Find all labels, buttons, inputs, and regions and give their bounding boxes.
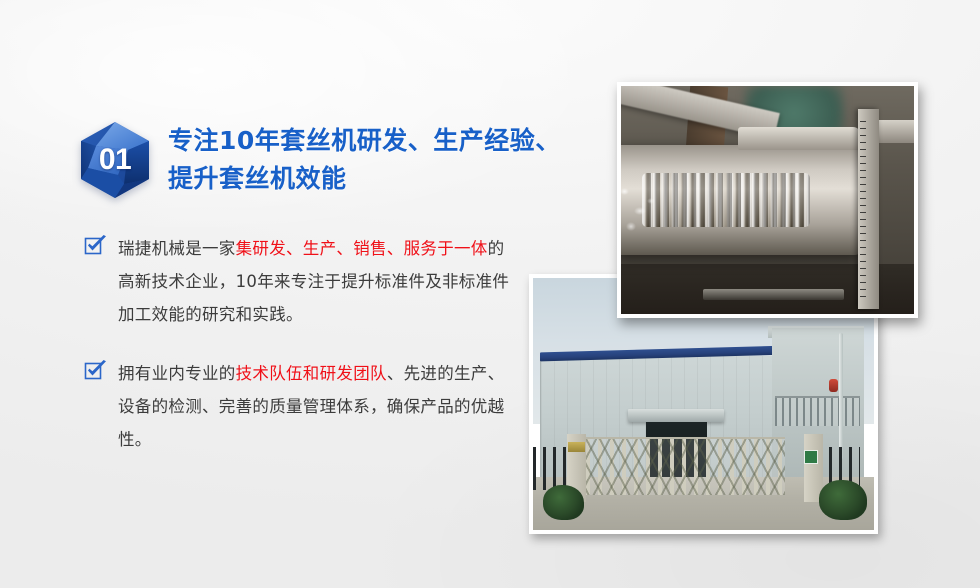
content-column: 01 专注10年套丝机研发、生产经验、 提升套丝机效能 瑞捷机械是一家集研发、生… xyxy=(0,0,560,588)
list-item: 拥有业内专业的技术队伍和研发团队、先进的生产、设备的检测、完善的质量管理体系，确… xyxy=(84,357,524,456)
floor-rail xyxy=(703,289,844,300)
green-door-sign xyxy=(804,450,818,465)
headline-line-2: 提升套丝机效能 xyxy=(168,160,561,198)
pipe-photo-frame xyxy=(621,86,914,314)
pillar-plaque xyxy=(568,442,585,452)
drainpipe xyxy=(839,333,843,459)
caliper-scale xyxy=(858,109,879,310)
bullet-2-seg-2-highlight: 技术队伍和研发团队 xyxy=(236,364,387,383)
headline-line-1: 专注10年套丝机研发、生产经验、 xyxy=(168,122,561,160)
hexagon-badge-icon: 01 xyxy=(76,120,154,200)
balcony-railing xyxy=(775,396,860,426)
oil-droplets xyxy=(621,176,669,244)
bullet-1-seg-2-highlight: 集研发、生产、销售、服务于一体 xyxy=(236,239,488,258)
door-canopy xyxy=(628,409,723,422)
bush xyxy=(819,480,867,520)
list-item: 瑞捷机械是一家集研发、生产、销售、服务于一体的高新技术企业，10年来专注于提升标… xyxy=(84,232,524,331)
checkbox-check-icon xyxy=(84,360,108,382)
bullet-1-seg-1: 瑞捷机械是一家 xyxy=(118,239,236,258)
caliper-jaw xyxy=(738,127,861,150)
bullet-text: 拥有业内专业的技术队伍和研发团队、先进的生产、设备的检测、完善的质量管理体系，确… xyxy=(118,357,518,456)
threaded-pipe-photo xyxy=(617,82,918,318)
checkbox-check-icon xyxy=(84,235,108,257)
warning-light xyxy=(829,379,838,392)
feature-bullet-list: 瑞捷机械是一家集研发、生产、销售、服务于一体的高新技术企业，10年来专注于提升标… xyxy=(84,232,524,482)
pipe-scene xyxy=(621,86,914,314)
sliding-gate xyxy=(574,437,785,494)
badge-number: 01 xyxy=(76,120,154,200)
bullet-2-seg-1: 拥有业内专业的 xyxy=(118,364,236,383)
bullet-text: 瑞捷机械是一家集研发、生产、销售、服务于一体的高新技术企业，10年来专注于提升标… xyxy=(118,232,518,331)
steel-pipe-body xyxy=(621,145,861,254)
promo-banner: 01 专注10年套丝机研发、生产经验、 提升套丝机效能 瑞捷机械是一家集研发、生… xyxy=(0,0,980,588)
headline-row: 01 专注10年套丝机研发、生产经验、 提升套丝机效能 xyxy=(76,118,546,200)
bush xyxy=(543,485,584,520)
headline: 专注10年套丝机研发、生产经验、 提升套丝机效能 xyxy=(168,118,561,198)
